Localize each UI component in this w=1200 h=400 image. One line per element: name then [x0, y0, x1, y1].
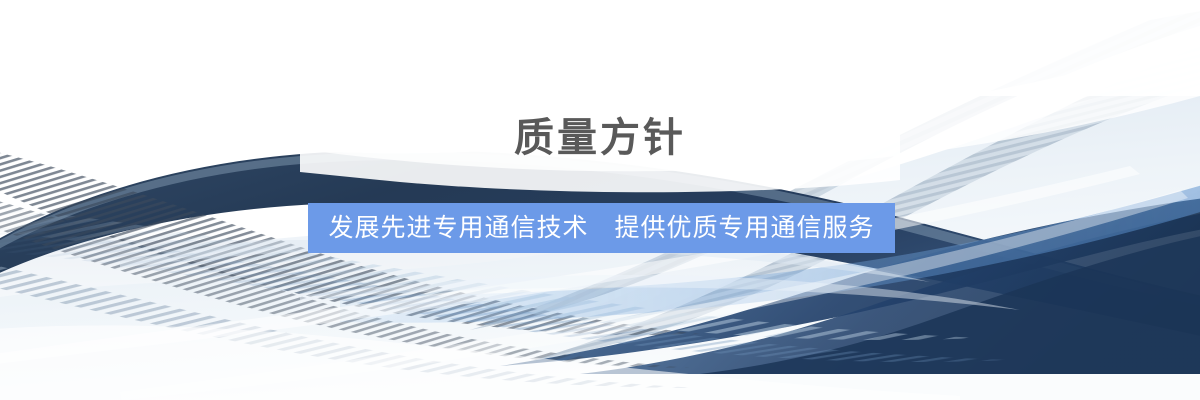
page-title: 质量方针	[0, 113, 1200, 163]
quality-policy-banner: 质量方针 发展先进专用通信技术 提供优质专用通信服务	[0, 0, 1200, 400]
top-white-band	[0, 0, 1200, 96]
background-wash	[0, 240, 1200, 400]
slogan-text: 发展先进专用通信技术 提供优质专用通信服务	[328, 203, 874, 253]
slogan-bar: 发展先进专用通信技术 提供优质专用通信服务	[308, 203, 895, 253]
